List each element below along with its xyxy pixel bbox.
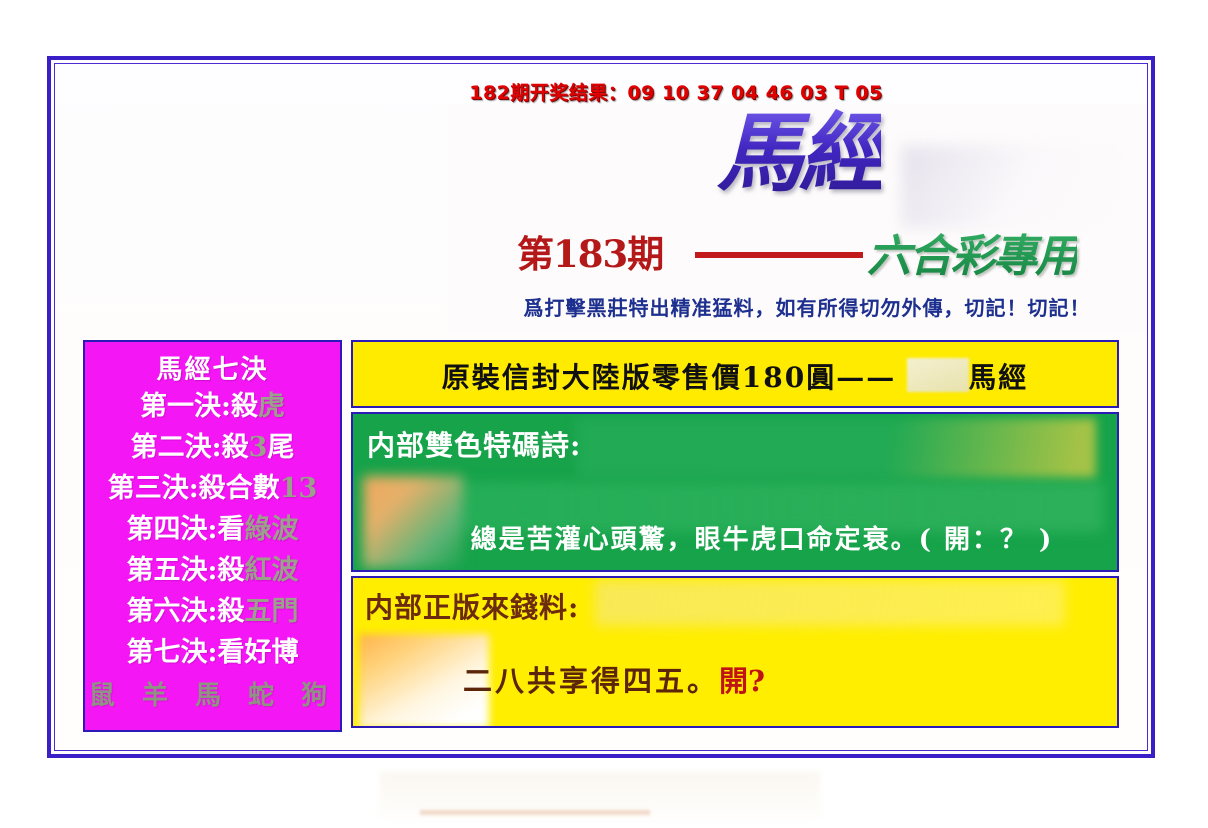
panel-stack: 原裝信封大陸版零售價180圓——馬經 内部雙色特碼詩: 總是苦灌心頭驚，眼牛虎口…: [351, 340, 1119, 732]
money-text-row: 二八共享得四五。開?: [463, 658, 765, 700]
money-open-marker: 開?: [719, 664, 765, 698]
masthead: 182期开奖结果：09 10 37 04 46 03 T 05 馬經 第183期…: [55, 64, 1147, 336]
footer-watermark-line: [420, 810, 650, 815]
sidebar-item-6-label: 第六決:殺: [127, 596, 245, 627]
poster-outer-frame: 182期开奖结果：09 10 37 04 46 03 T 05 馬經 第183期…: [47, 56, 1155, 758]
sidebar-item-3-label: 第三決:殺合數: [108, 473, 280, 504]
poem-label: 内部雙色特碼詩:: [367, 424, 581, 464]
sidebar-item-3: 第三決:殺合數13: [85, 468, 340, 509]
poem-redaction-mask-top: [576, 418, 1096, 478]
price-text: 原裝信封大陸版零售價180圓——: [442, 361, 896, 394]
poster-inner-frame: 182期开奖结果：09 10 37 04 46 03 T 05 馬經 第183期…: [54, 63, 1148, 751]
sidebar-item-5-highlight: 紅波: [244, 555, 298, 586]
sidebar-item-7-label: 第七決:看好博: [127, 637, 299, 668]
money-redaction-mask: [595, 580, 1065, 626]
issue-tagline: 六合彩專用: [867, 220, 1077, 284]
sidebar-item-5: 第五決:殺紅波: [85, 550, 340, 591]
sidebar-item-1: 第一決:殺虎: [85, 386, 340, 427]
panel-price: 原裝信封大陸版零售價180圓——馬經: [351, 340, 1119, 408]
poster-page: 182期开奖结果：09 10 37 04 46 03 T 05 馬經 第183期…: [0, 0, 1208, 828]
sidebar-item-1-highlight: 虎: [258, 391, 285, 422]
sidebar-zodiac-row: 鼠 羊 馬 蛇 狗: [85, 675, 340, 712]
poem-text: 總是苦灌心頭驚，眼牛虎口命定衰。( 開：？ ): [353, 519, 1111, 556]
panel-poem: 内部雙色特碼詩: 總是苦灌心頭驚，眼牛虎口命定衰。( 開：？ ): [351, 412, 1119, 572]
issue-divider-rule: [695, 252, 863, 258]
sidebar-item-2-label: 第二決:殺: [131, 432, 249, 463]
sidebar-item-5-label: 第五決:殺: [127, 555, 245, 586]
sidebar-item-6-highlight: 五門: [244, 596, 298, 627]
sidebar-item-6: 第六決:殺五門: [85, 591, 340, 632]
sidebar-item-2-suffix: 尾: [267, 432, 294, 463]
sidebar-title: 馬經七決: [85, 349, 340, 386]
content-area: 馬經七決 第一決:殺虎 第二決:殺3尾 第三決:殺合數13 第四決:看綠波: [83, 340, 1119, 736]
sidebar-item-2: 第二決:殺3尾: [85, 427, 340, 468]
logo-blur-mask: [902, 146, 1117, 228]
logo-block: 馬經 第183期 六合彩專用 爲打擊黑莊特出精准猛料，如有所得切勿外傳，切記！切…: [447, 104, 1147, 334]
sidebar-seven-tips: 馬經七決 第一決:殺虎 第二決:殺3尾 第三決:殺合數13 第四決:看綠波: [83, 340, 342, 732]
sidebar-item-4-highlight: 綠波: [244, 514, 298, 545]
price-redaction-mask: [907, 358, 969, 392]
sidebar-item-4-label: 第四決:看: [127, 514, 245, 545]
sidebar-item-7: 第七決:看好博: [85, 632, 340, 673]
money-label: 内部正版來錢料:: [365, 586, 579, 626]
price-brand: 馬經: [968, 361, 1028, 394]
sidebar-item-1-label: 第一決:殺: [140, 391, 258, 422]
slogan-text: 爲打擊黑莊特出精准猛料，如有所得切勿外傳，切記！切記！: [467, 292, 1147, 321]
sidebar-item-2-highlight: 3: [249, 432, 268, 463]
brand-logo: 馬經: [717, 108, 881, 200]
sidebar-item-3-highlight: 13: [280, 473, 318, 504]
panel-money: 内部正版來錢料: 二八共享得四五。開?: [351, 576, 1119, 728]
draw-result-line: 182期开奖结果：09 10 37 04 46 03 T 05: [55, 78, 1147, 105]
sidebar-item-4: 第四決:看綠波: [85, 509, 340, 550]
issue-row: 第183期 六合彩專用: [467, 224, 1147, 286]
money-text: 二八共享得四五。: [463, 664, 719, 698]
issue-number: 第183期: [517, 224, 663, 278]
price-text-row: 原裝信封大陸版零售價180圓——馬經: [353, 356, 1117, 396]
